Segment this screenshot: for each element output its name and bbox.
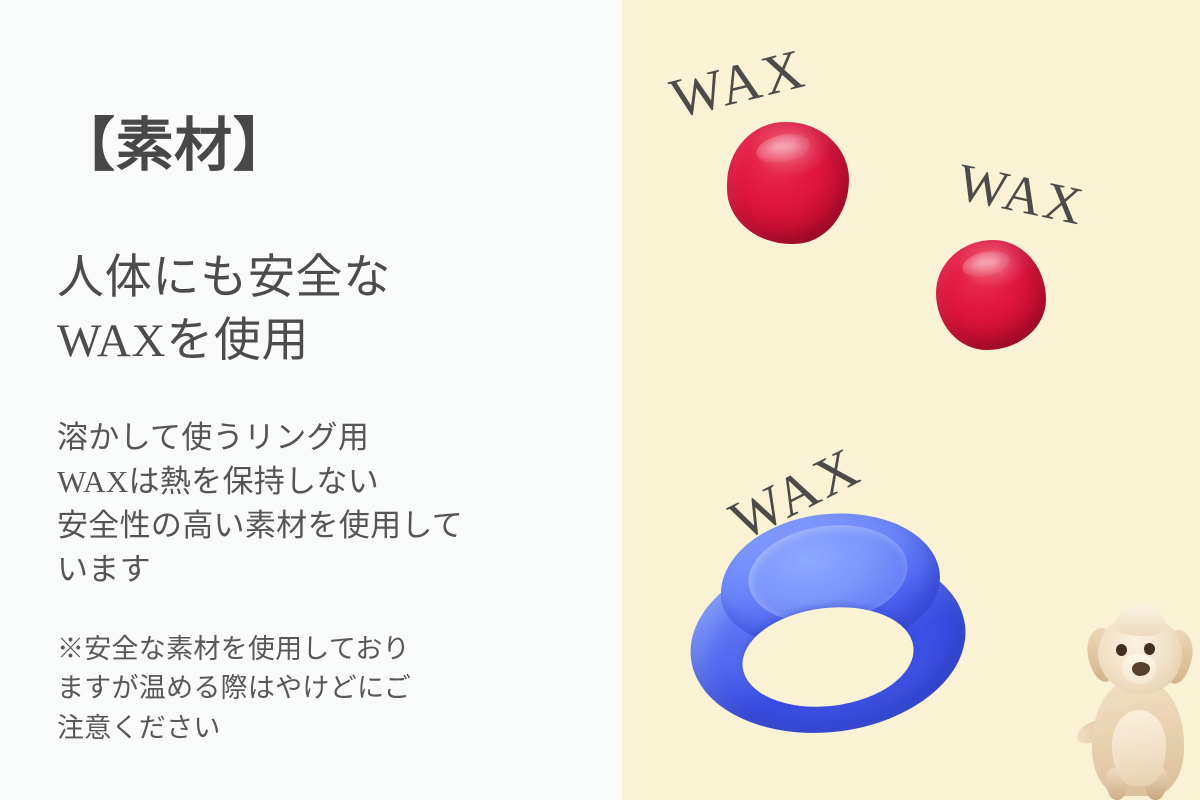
text-panel: 【素材】 人体にも安全な WAXを使用 溶かして使うリング用 WAXは熱を保持し…	[0, 0, 622, 800]
note-paragraph: ※安全な素材を使用しており ますが温める際はやけどにご 注意ください	[57, 630, 411, 748]
red-wax-ball-2	[936, 240, 1046, 350]
wax-label-top-left: WAX	[664, 36, 813, 131]
dog-topknot	[1114, 606, 1166, 636]
body-paragraph: 溶かして使うリング用 WAXは熱を保持しない 安全性の高い素材を使用して います	[57, 416, 463, 592]
blue-wax-ring	[684, 512, 974, 734]
wax-label-top-right: WAX	[952, 152, 1090, 237]
red-wax-ball-1	[727, 122, 849, 244]
dog-chest	[1112, 710, 1166, 786]
subheading: 人体にも安全な WAXを使用	[57, 247, 391, 373]
dog-eye-right	[1144, 643, 1155, 655]
page-title: 【素材】	[57, 117, 291, 175]
dog-photo	[1074, 600, 1200, 800]
promo-slide: 【素材】 人体にも安全な WAXを使用 溶かして使うリング用 WAXは熱を保持し…	[0, 0, 1200, 800]
product-image-panel: WAX WAX WAX	[622, 0, 1200, 800]
dog-eye-left	[1116, 644, 1127, 656]
